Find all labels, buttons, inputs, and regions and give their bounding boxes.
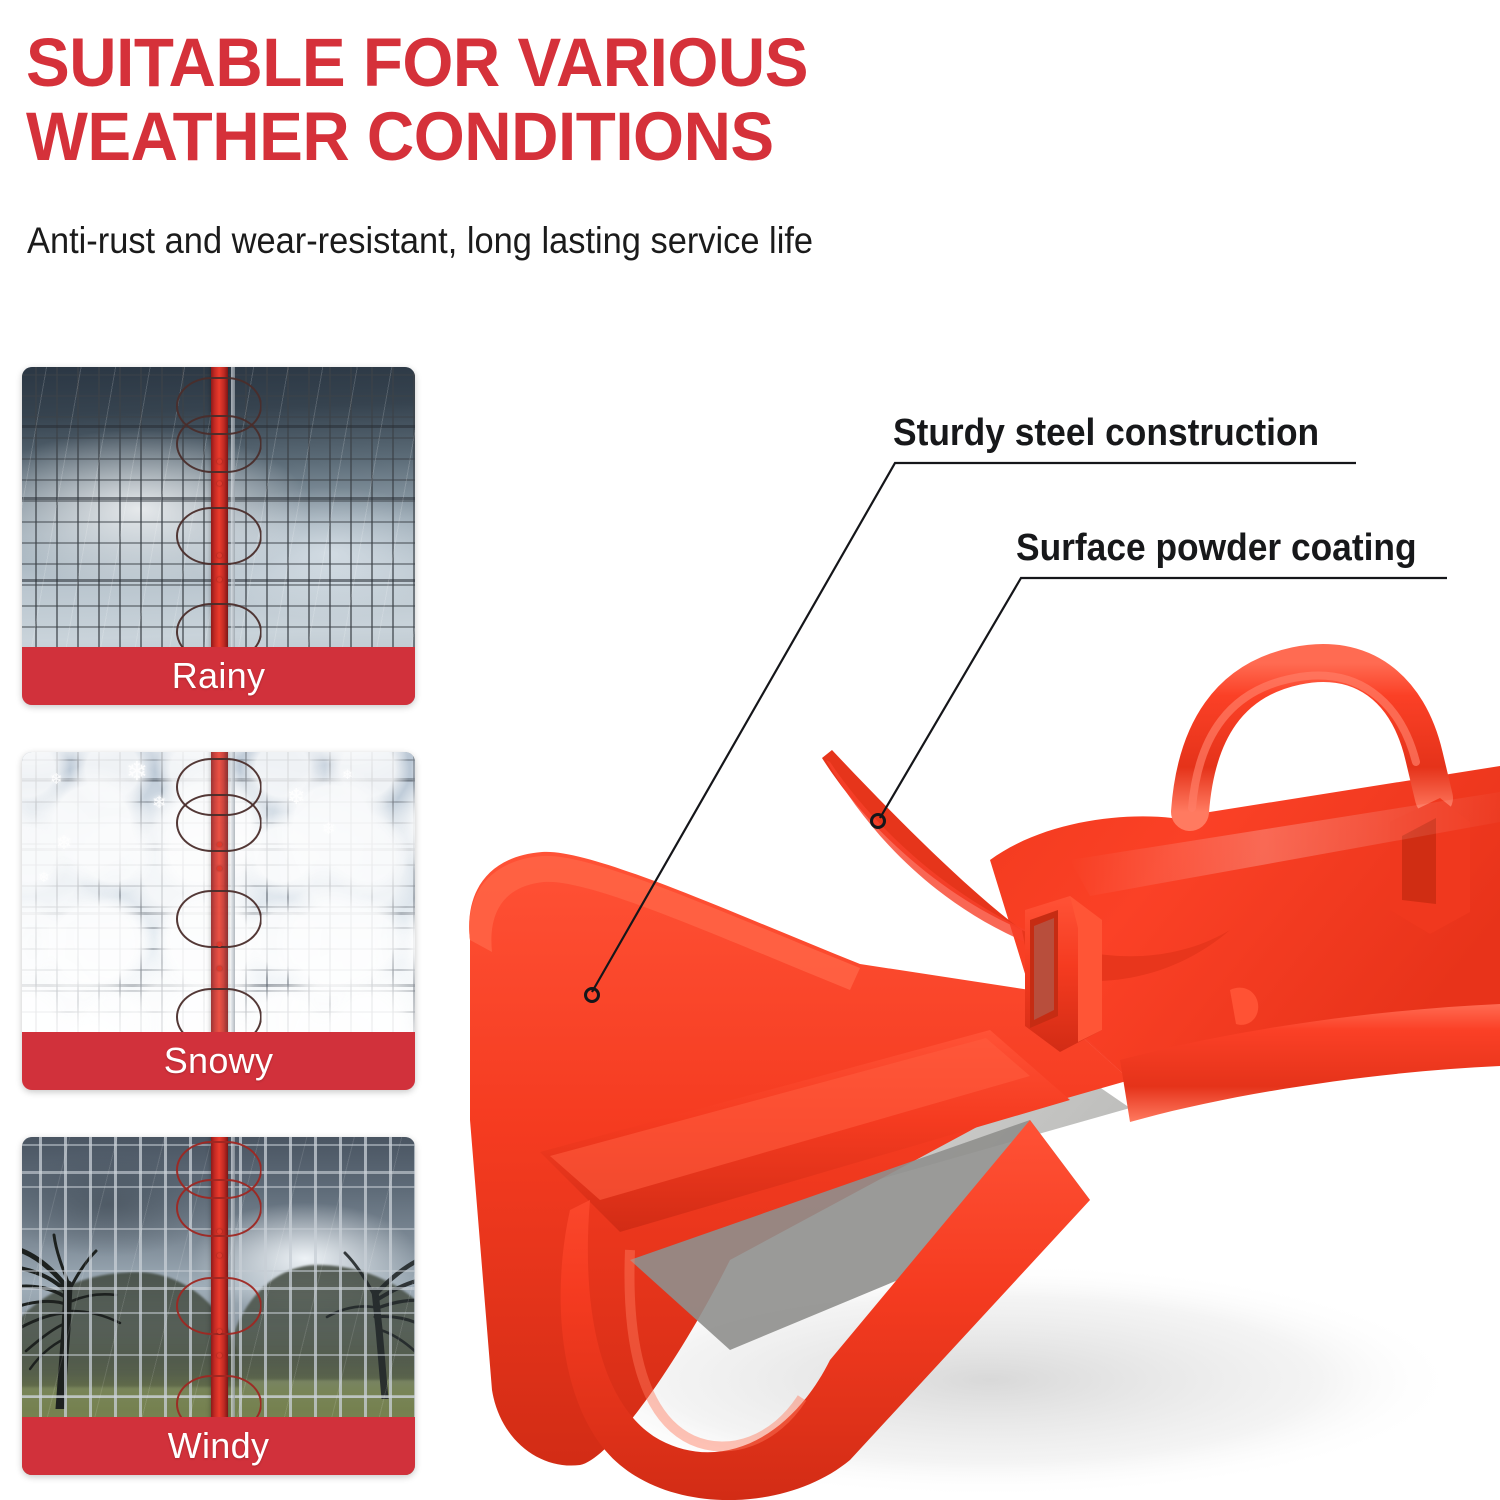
product-image-fence-post-driver: [430, 560, 1500, 1500]
post-dot-icon: [217, 842, 222, 847]
post-dot-icon: [217, 481, 222, 486]
snowflake-icon: ❄: [126, 758, 148, 784]
weather-panel-windy: Windy: [22, 1137, 415, 1475]
post-dot-icon: [217, 866, 222, 871]
post-dot-icon: [217, 459, 222, 464]
post-dot-icon: [217, 577, 222, 582]
post-dot-icon: [217, 1329, 222, 1334]
callout-label-sturdy-steel-construction: Sturdy steel construction: [893, 411, 1319, 455]
post-dot-icon: [217, 553, 222, 558]
callout-label-surface-powder-coating: Surface powder coating: [1016, 526, 1417, 570]
panel-label-rainy: Rainy: [22, 647, 415, 705]
page-subtitle: Anti-rust and wear-resistant, long lasti…: [27, 218, 1143, 264]
powder-coated-blade-edge: [822, 750, 1022, 930]
panel-label-windy: Windy: [22, 1417, 415, 1475]
post-clip-icon: [176, 890, 262, 948]
snowflake-icon: ❄: [152, 794, 166, 811]
post-dot-icon: [217, 966, 222, 971]
snowflake-icon: ❄: [56, 834, 72, 853]
snowflake-icon: ❄: [322, 822, 335, 838]
post-clip-icon: [176, 1277, 262, 1335]
snowflake-icon: ❄: [38, 870, 50, 884]
weather-panel-snowy: ❄ ❄ ❄ ❄ ❄ ❄ ❄ ❄ Snowy: [22, 752, 415, 1090]
post-dot-icon: [217, 1353, 222, 1358]
snowflake-icon: ❄: [50, 772, 63, 787]
infographic-page: SUITABLE FOR VARIOUS WEATHER CONDITIONS …: [0, 0, 1500, 1500]
page-title: SUITABLE FOR VARIOUS WEATHER CONDITIONS: [26, 26, 1119, 174]
post-dot-icon: [217, 1229, 222, 1234]
panel-label-snowy: Snowy: [22, 1032, 415, 1090]
weather-panel-rainy: Rainy: [22, 367, 415, 705]
post-dot-icon: [217, 942, 222, 947]
post-dot-icon: [217, 1253, 222, 1258]
post-clip-icon: [176, 415, 262, 473]
snowflake-icon: ❄: [342, 768, 353, 781]
product-center-clamp: [1025, 896, 1102, 1052]
snowflake-icon: ❄: [287, 786, 305, 808]
